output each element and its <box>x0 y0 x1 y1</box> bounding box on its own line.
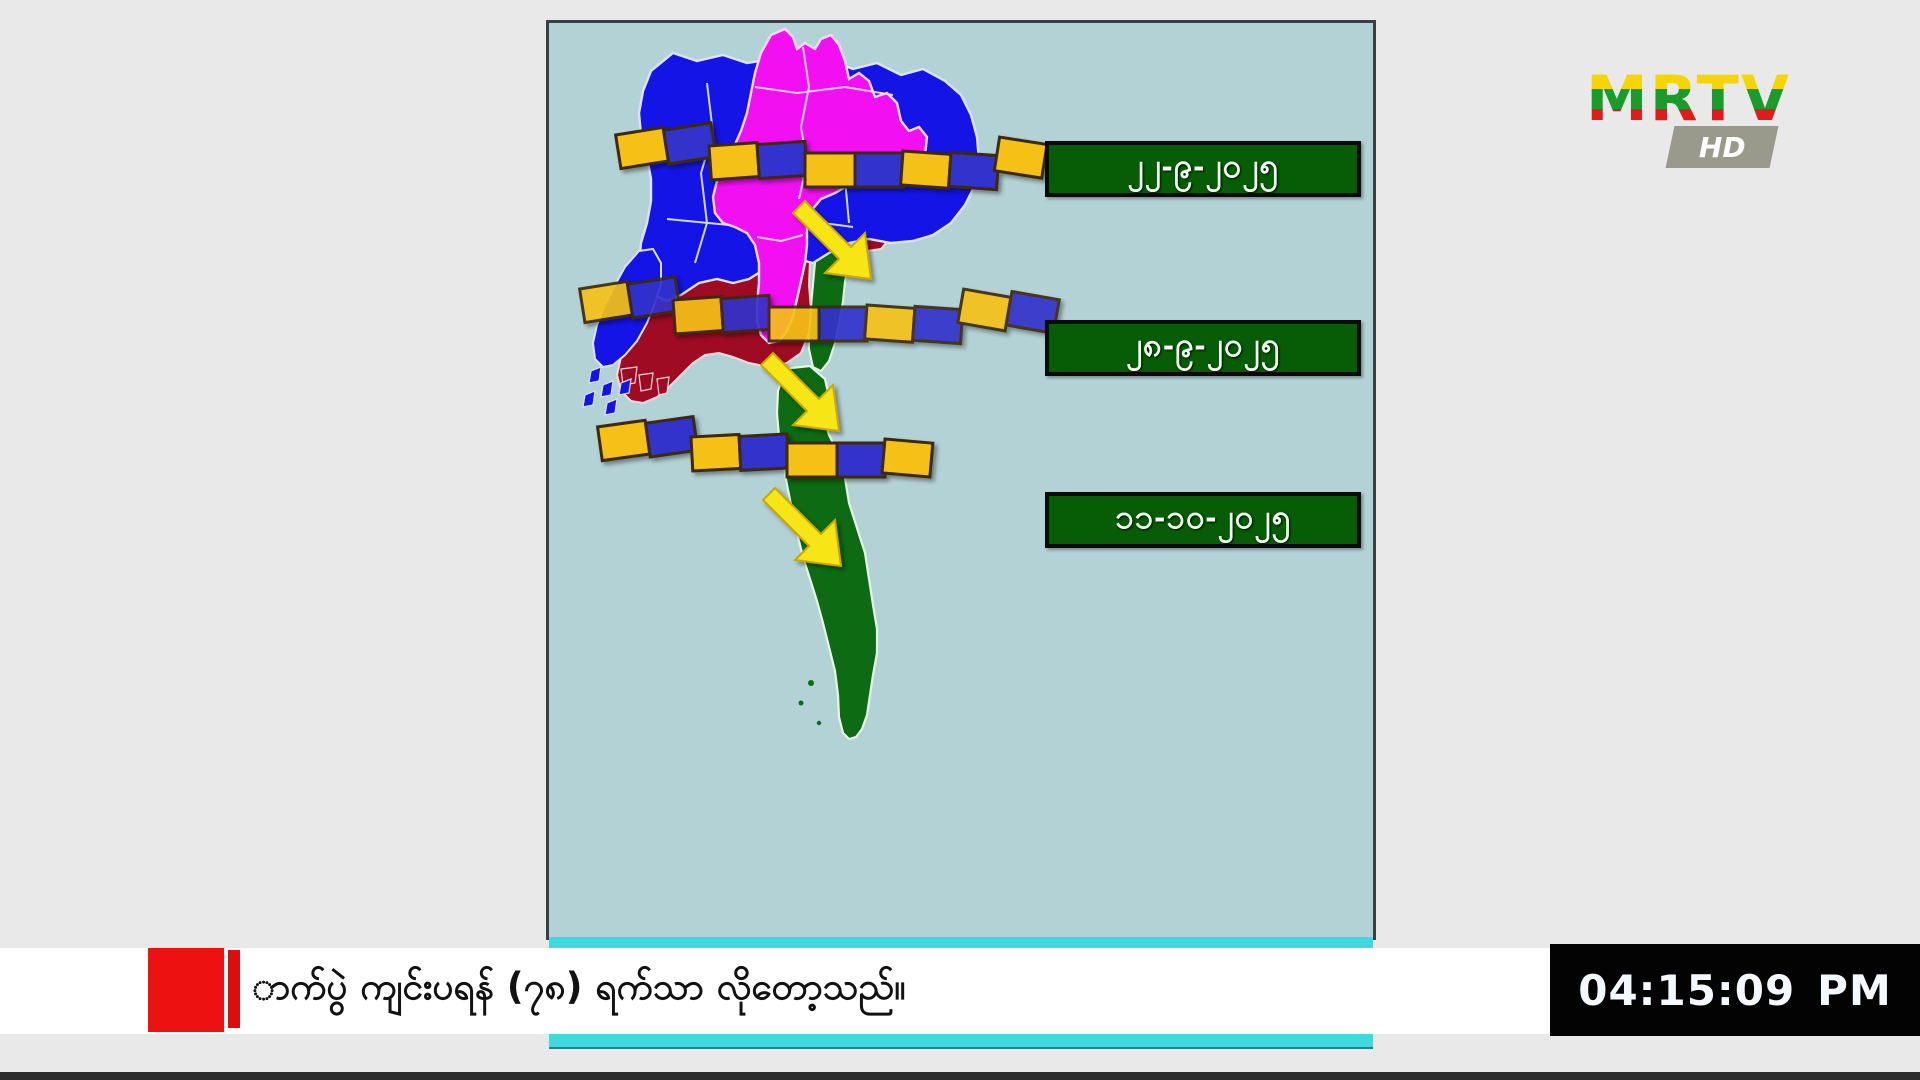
ticker-red-marker <box>148 948 224 1032</box>
screen-bottom-edge <box>0 1072 1920 1080</box>
clock-time: 04:15:09 <box>1578 966 1795 1015</box>
date-plate-1: ၂၂-၉-၂၀၂၅ <box>1045 141 1361 197</box>
broadcast-screen: ၂၂-၉-၂၀၂၅ ၂၈-၉-၂၀၂၅ ၁၁-၁၀-၂၀၂၅ MRTV HD ာ… <box>0 0 1920 1080</box>
ticker-red-accent <box>228 950 240 1028</box>
date-text-3: ၁၁-၁၀-၂၀၂၅ <box>1115 496 1291 545</box>
date-plate-3: ၁၁-၁၀-၂၀၂၅ <box>1045 492 1361 548</box>
hd-badge-label: HD <box>1699 131 1746 164</box>
date-text-1: ၂၂-၉-၂၀၂၅ <box>1127 145 1279 194</box>
mrtv-wordmark: MRTV <box>1586 68 1791 130</box>
clock-widget: 04:15:09 PM <box>1550 944 1920 1036</box>
ticker-text: ာက်ပွဲ ကျင်းပရန် (၇၈) ရက်သာ လိုတော့သည်။ <box>252 948 905 1034</box>
hd-badge: HD <box>1666 126 1779 168</box>
clock-meridiem: PM <box>1817 966 1892 1015</box>
date-plate-2: ၂၈-၉-၂၀၂၅ <box>1045 320 1361 376</box>
date-text-2: ၂၈-၉-၂၀၂၅ <box>1126 324 1280 373</box>
mrtv-logo: MRTV HD <box>1586 68 1786 173</box>
